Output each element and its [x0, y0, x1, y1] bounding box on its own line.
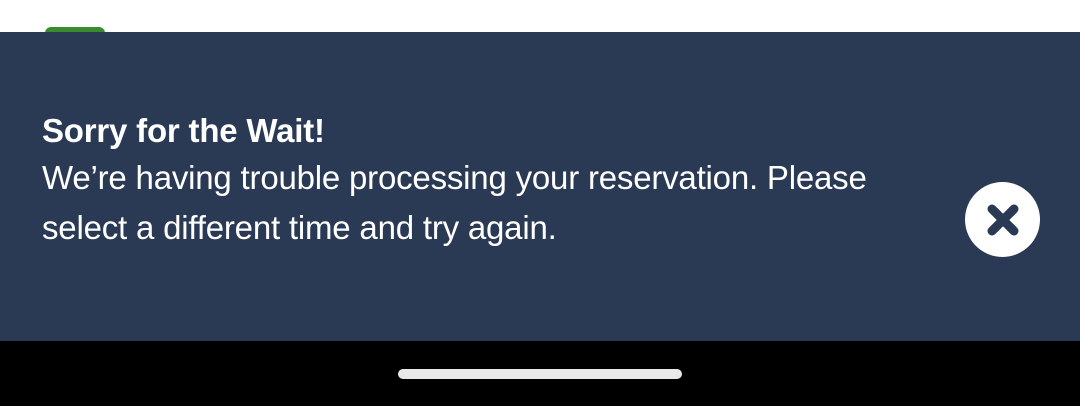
error-banner-text: Sorry for the Wait! We’re having trouble… — [42, 108, 922, 253]
home-indicator[interactable] — [398, 369, 682, 379]
error-banner: Sorry for the Wait! We’re having trouble… — [0, 32, 1080, 341]
app-screen: Sorry for the Wait! We’re having trouble… — [0, 0, 1080, 406]
error-banner-title: Sorry for the Wait! — [42, 108, 922, 153]
error-banner-message: We’re having trouble processing your res… — [42, 153, 912, 253]
close-icon — [981, 198, 1025, 242]
system-bottom-bar — [0, 341, 1080, 406]
page-content-strip — [0, 0, 1080, 32]
close-banner-button[interactable] — [965, 182, 1040, 257]
